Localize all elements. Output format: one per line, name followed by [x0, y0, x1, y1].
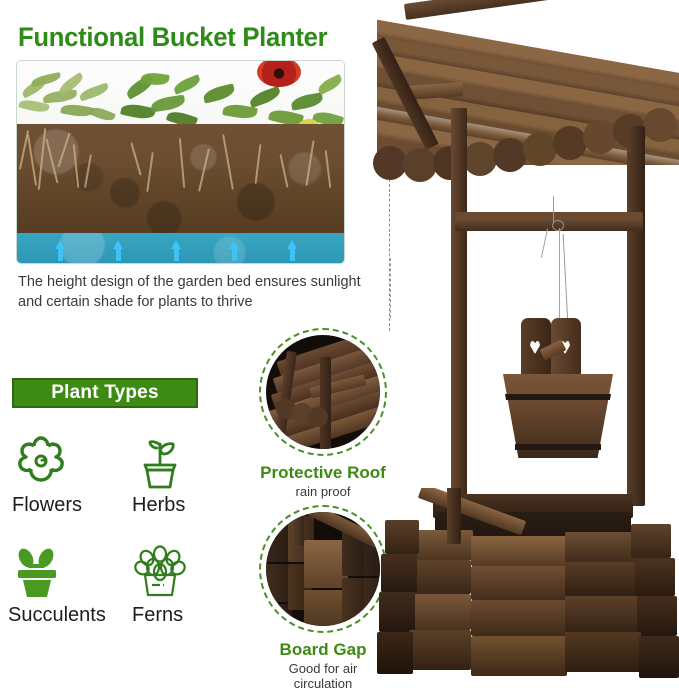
plant-type-succulents: Succulents	[8, 542, 126, 627]
wishing-well-planter-photo	[355, 0, 679, 691]
hanging-wire	[535, 196, 575, 324]
potted-succulent-filled-icon	[8, 542, 126, 600]
plant-type-herbs: Herbs	[132, 432, 250, 517]
photo-water-layer	[17, 233, 344, 263]
hanging-bucket	[503, 318, 623, 458]
flower-outline-icon	[12, 432, 130, 490]
plant-type-label: Flowers	[12, 494, 130, 517]
octagonal-planter-base	[373, 488, 679, 691]
plant-type-label: Herbs	[132, 494, 250, 517]
corner-post	[627, 126, 645, 506]
plant-type-label: Ferns	[132, 604, 250, 627]
red-flower-icon	[257, 61, 301, 87]
potted-fern-outline-icon	[132, 542, 250, 600]
plant-types-badge: Plant Types	[12, 378, 198, 408]
corner-post	[451, 108, 467, 528]
infographic-page: Functional Bucket Planter	[0, 0, 679, 691]
soil-cross-section-photo	[16, 60, 345, 264]
metal-bucket-band	[515, 444, 601, 450]
page-title: Functional Bucket Planter	[18, 22, 327, 53]
plant-type-flowers: Flowers	[12, 432, 130, 517]
plant-types-badge-label: Plant Types	[51, 382, 158, 404]
metal-bucket-band	[505, 394, 611, 400]
hero-caption: The height design of the garden bed ensu…	[18, 272, 376, 312]
plant-type-label: Succulents	[8, 604, 126, 627]
photo-soil-layer	[17, 124, 344, 235]
plant-type-ferns: Ferns	[132, 542, 250, 627]
potted-seedling-outline-icon	[132, 432, 250, 490]
